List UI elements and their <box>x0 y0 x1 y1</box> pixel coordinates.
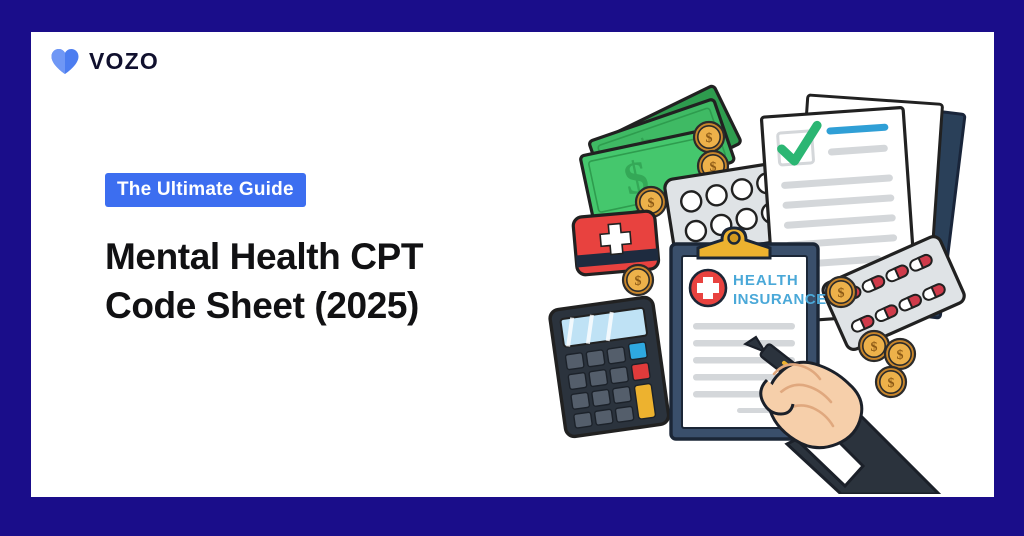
medical-cross-badge <box>690 270 726 306</box>
clipboard-title-line-2: INSURANCE <box>733 291 827 308</box>
calculator <box>549 296 670 437</box>
page-title-line-2: Code Sheet (2025) <box>105 281 535 330</box>
gold-coin-kit <box>623 265 653 295</box>
guide-badge: The Ultimate Guide <box>105 173 306 207</box>
banner-root: VOZO The Ultimate Guide Mental Health CP… <box>0 0 1024 536</box>
heart-icon <box>50 48 80 75</box>
brand-name: VOZO <box>89 50 159 73</box>
illustration-svg: $ $ $ <box>541 74 981 494</box>
health-insurance-claim-illustration: $ $ $ <box>541 74 981 494</box>
first-aid-kit <box>573 211 660 276</box>
brand-logo[interactable]: VOZO <box>50 48 159 75</box>
content-card: VOZO The Ultimate Guide Mental Health CP… <box>31 32 994 497</box>
page-title: Mental Health CPT Code Sheet (2025) <box>105 232 535 330</box>
page-title-line-1: Mental Health CPT <box>105 232 535 281</box>
hero-copy: The Ultimate Guide Mental Health CPT Cod… <box>105 173 535 330</box>
clipboard-title-line-1: HEALTH <box>733 272 799 289</box>
